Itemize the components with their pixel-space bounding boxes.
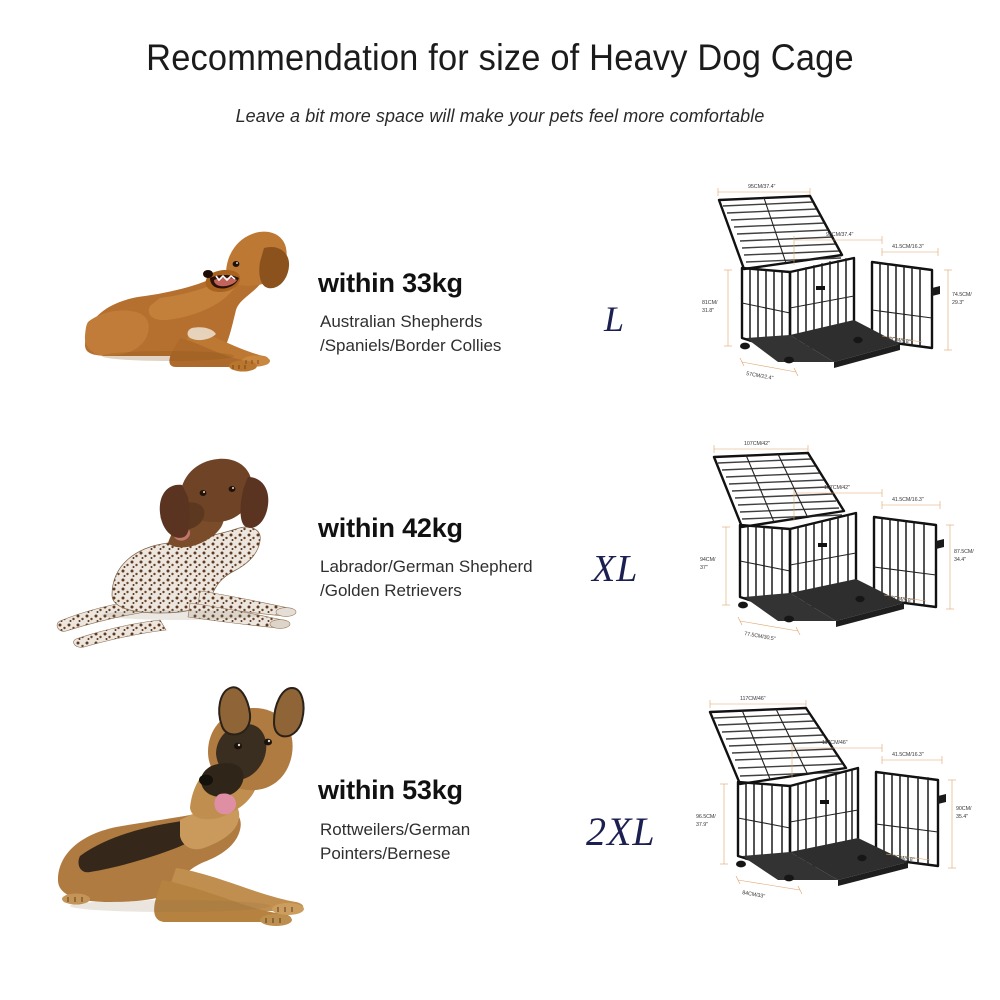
dim-body-depth-text-l: 95CM/37.4" (826, 232, 853, 238)
dim-height-left-in-l: 31.8" (702, 308, 714, 314)
size-row-l: within 33kg Australian Shepherds /Spanie… (0, 170, 1000, 425)
dim-lid-width-text-l: 95CM/37.4" (748, 184, 775, 190)
weight-label-l: within 33kg (318, 268, 463, 299)
dog-photo-2xl (40, 680, 320, 935)
size-code-wrap-xl: XL (586, 425, 696, 680)
dim-height-left-l: 81CM/ 31.8" (702, 270, 732, 346)
dim-lid-width-2xl: 117CM/46" (710, 696, 806, 708)
size-code-l: L (604, 298, 625, 340)
cage-lid-l (719, 196, 842, 269)
dim-height-right-xl: 87.5CM/ 34.4" (946, 525, 974, 609)
breeds-label-l: Australian Shepherds /Spaniels/Border Co… (320, 310, 501, 358)
size-code-2xl: 2XL (586, 808, 656, 855)
dim-base-width-text-l: 57CM/22.4" (746, 371, 774, 382)
cage-tray-2xl (742, 838, 908, 886)
infographic-page: Recommendation for size of Heavy Dog Cag… (0, 0, 1000, 1000)
dog-photo-xl (40, 425, 320, 680)
dog-cage-illustration-xl: 107CM/42" (686, 425, 986, 680)
breeds-line2-l: /Spaniels/Border Collies (320, 336, 501, 355)
dim-height-left-in-xl: 37" (700, 565, 708, 571)
dim-door-width-l: 41.5CM/16.3" (882, 244, 938, 256)
dim-height-left-in-2xl: 37.9" (696, 822, 708, 828)
dog-cage-illustration-2xl: 117CM/46" (686, 680, 986, 935)
dim-body-depth-text-2xl: 117CM/46" (822, 740, 848, 746)
size-row-2xl: within 53kg Rottweilers/German Pointers/… (0, 680, 1000, 935)
size-code-xl: XL (592, 547, 638, 591)
dim-height-left-xl: 94CM/ 37" (700, 527, 730, 605)
dim-height-left-text-2xl: 96.5CM/ (696, 814, 716, 820)
dim-height-right-2xl: 90CM/ 35.4" (948, 780, 972, 868)
dim-body-depth-text-xl: 107CM/42" (824, 485, 850, 491)
breeds-line1-l: Australian Shepherds (320, 312, 483, 331)
dim-height-left-text-l: 81CM/ (702, 300, 718, 306)
size-row-xl: within 42kg Labrador/German Shepherd /Go… (0, 425, 1000, 680)
german-shorthaired-pointer-icon (40, 425, 320, 680)
dim-height-right-text-l: 74.5CM/ (952, 292, 972, 298)
dim-lid-width-xl: 107CM/42" (714, 441, 808, 453)
breeds-line1-2xl: Rottweilers/German (320, 820, 470, 839)
dim-base-width-text-2xl: 84CM/33" (742, 890, 766, 900)
size-text-xl: within 42kg Labrador/German Shepherd /Go… (318, 425, 586, 680)
dim-height-left-2xl: 96.5CM/ 37.9" (696, 784, 728, 864)
cage-tray-xl (744, 579, 904, 627)
dim-base-width-text-xl: 77.5CM/30.5" (744, 631, 776, 642)
cage-diagram-l: 95CM/37.4" (686, 170, 986, 425)
dim-height-right-text-2xl: 90CM/ (956, 806, 972, 812)
weight-label-2xl: within 53kg (318, 775, 463, 806)
dim-door-width-text-l: 41.5CM/16.3" (892, 244, 924, 250)
dim-lid-width-text-xl: 107CM/42" (744, 441, 770, 447)
page-title: Recommendation for size of Heavy Dog Cag… (35, 38, 965, 79)
dim-height-left-text-xl: 94CM/ (700, 557, 716, 563)
dim-height-right-text-xl: 87.5CM/ (954, 549, 974, 555)
dog-photo-l (40, 170, 320, 425)
cage-diagram-xl: 107CM/42" (686, 425, 986, 680)
header: Recommendation for size of Heavy Dog Cag… (0, 0, 1000, 127)
german-shepherd-icon (40, 680, 320, 935)
cage-tray-l (746, 320, 900, 368)
size-code-wrap-2xl: 2XL (586, 680, 696, 935)
breeds-line2-xl: /Golden Retrievers (320, 581, 462, 600)
dim-lid-width-text-2xl: 117CM/46" (740, 696, 766, 702)
breeds-label-xl: Labrador/German Shepherd /Golden Retriev… (320, 555, 533, 603)
dim-height-right-in-l: 29.3" (952, 300, 964, 306)
cage-diagram-2xl: 117CM/46" (686, 680, 986, 935)
breeds-line2-2xl: Pointers/Bernese (320, 844, 450, 863)
dog-cage-illustration-l: 95CM/37.4" (686, 170, 986, 425)
red-brown-hound-icon (40, 170, 320, 425)
breeds-label-2xl: Rottweilers/German Pointers/Bernese (320, 818, 470, 866)
dim-lid-width-l: 95CM/37.4" (718, 184, 810, 196)
size-text-l: within 33kg Australian Shepherds /Spanie… (318, 170, 586, 425)
dim-height-right-l: 74.5CM/ 29.3" (944, 270, 972, 350)
weight-label-xl: within 42kg (318, 513, 463, 544)
size-text-2xl: within 53kg Rottweilers/German Pointers/… (318, 680, 586, 935)
dim-door-width-xl: 41.5CM/16.3" (882, 497, 940, 509)
size-rows: within 33kg Australian Shepherds /Spanie… (0, 170, 1000, 935)
dim-height-right-in-2xl: 35.4" (956, 814, 968, 820)
cage-lid-2xl (710, 708, 846, 784)
dim-door-width-text-2xl: 41.5CM/16.3" (892, 752, 924, 758)
dim-door-width-text-xl: 41.5CM/16.3" (892, 497, 924, 503)
dim-height-right-in-xl: 34.4" (954, 557, 966, 563)
page-subtitle: Leave a bit more space will make your pe… (15, 105, 985, 127)
size-code-wrap-l: L (586, 170, 696, 425)
dim-door-width-2xl: 41.5CM/16.3" (882, 752, 942, 764)
breeds-line1-xl: Labrador/German Shepherd (320, 557, 533, 576)
